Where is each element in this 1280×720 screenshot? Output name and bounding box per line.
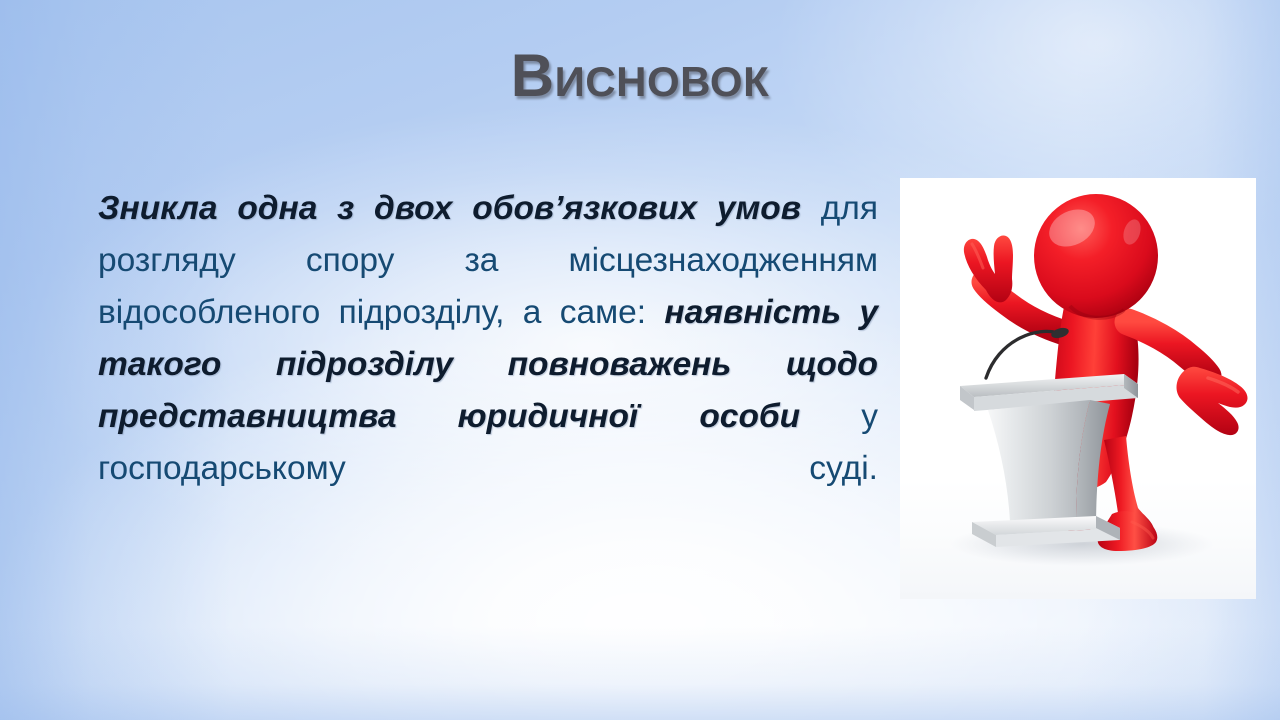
image-inner xyxy=(900,178,1256,599)
body-segment-emphasis-1: Зникла одна з двох обов’язкових умов xyxy=(98,190,801,227)
figure-right-arm xyxy=(1128,322,1247,435)
red-figure-illustration xyxy=(900,178,1256,599)
podium-column-front xyxy=(988,400,1090,522)
page-title: Висновок xyxy=(0,46,1280,106)
speaker-podium-image xyxy=(900,178,1256,599)
figure-head xyxy=(1034,194,1158,318)
body-paragraph: Зникла одна з двох обов’язкових умов для… xyxy=(98,183,878,547)
slide: Висновок Зникла одна з двох обов’язкових… xyxy=(0,0,1280,720)
